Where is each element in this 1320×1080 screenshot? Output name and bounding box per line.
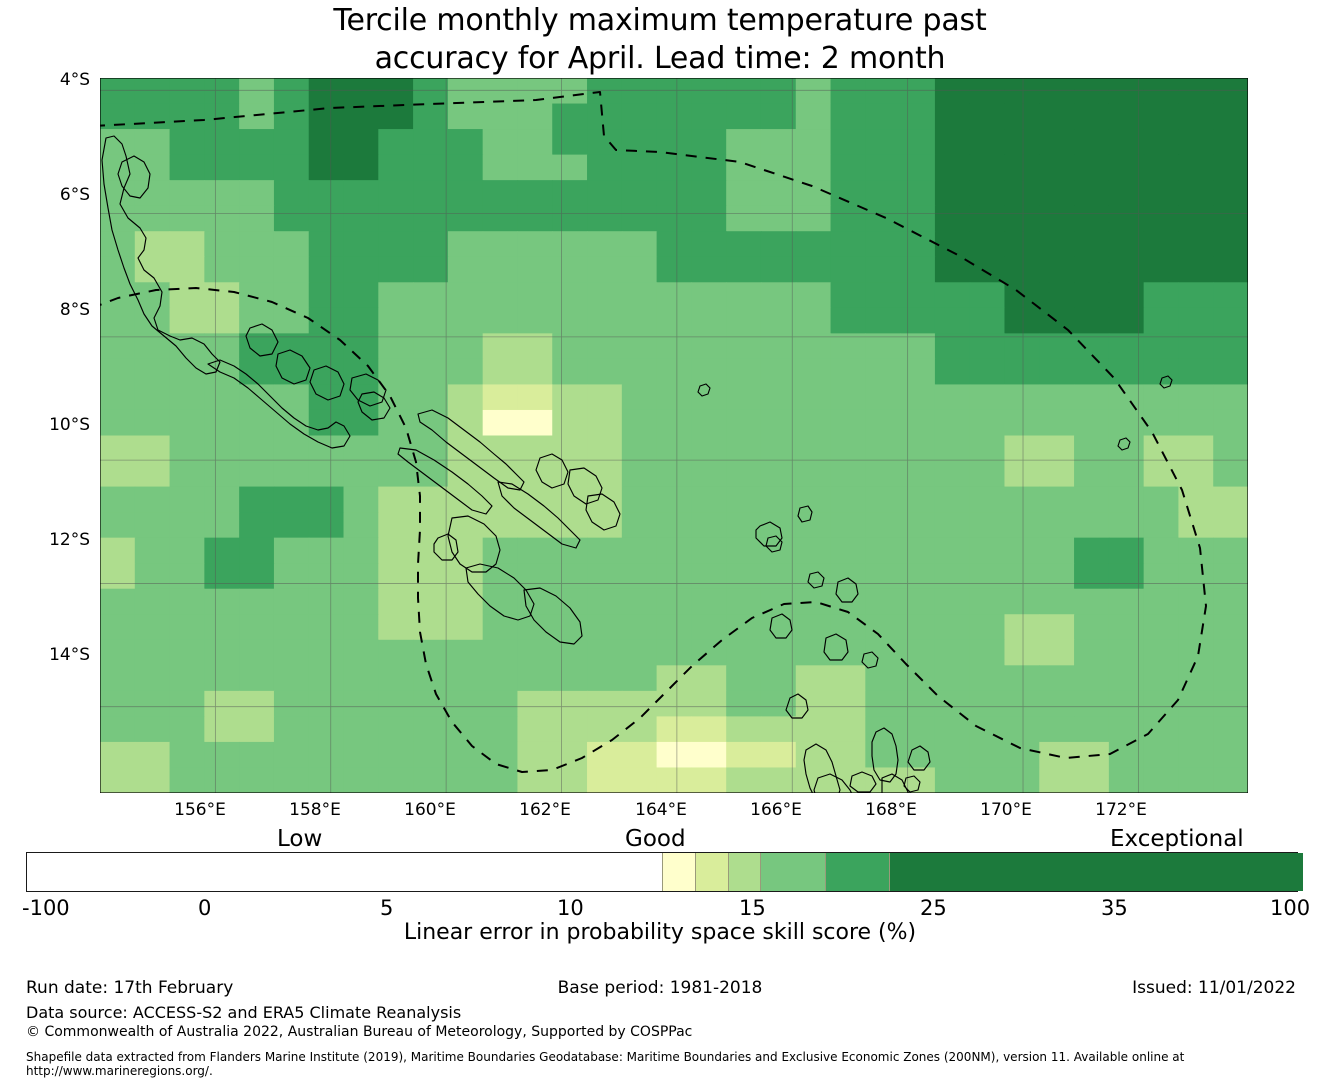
heatmap-cell <box>970 461 1005 487</box>
heatmap-cell <box>1178 487 1213 513</box>
heatmap-cell <box>552 333 587 359</box>
cbar-tick-7: 100 <box>1270 896 1310 920</box>
heatmap-cell <box>1144 487 1179 513</box>
heatmap-cell <box>274 665 309 691</box>
heatmap-cell <box>344 129 379 155</box>
heatmap-cell <box>1109 589 1144 615</box>
heatmap-cell <box>970 640 1005 666</box>
heatmap-cell <box>552 665 587 691</box>
heatmap-cell <box>239 180 274 206</box>
colorbar-segment-2 <box>695 853 728 891</box>
heatmap-cell <box>274 512 309 538</box>
heatmap-cell <box>726 206 761 232</box>
heatmap-cell <box>170 691 205 717</box>
heatmap-cell <box>1178 436 1213 462</box>
heatmap-cell <box>1109 563 1144 589</box>
heatmap-cell <box>587 691 622 717</box>
heatmap-cell <box>239 589 274 615</box>
heatmap-cell <box>970 206 1005 232</box>
heatmap-cell <box>170 180 205 206</box>
heatmap-cell <box>691 589 726 615</box>
heatmap-cell <box>517 282 552 308</box>
heatmap-cell <box>935 282 970 308</box>
heatmap-cell <box>135 155 170 181</box>
heatmap-cell <box>1178 129 1213 155</box>
heatmap-cell <box>448 410 483 436</box>
heatmap-cell <box>204 767 239 793</box>
heatmap-cell <box>378 410 413 436</box>
heatmap-cell <box>831 257 866 283</box>
heatmap-cell <box>796 282 831 308</box>
heatmap-cell <box>831 767 866 793</box>
heatmap-cell <box>1213 716 1248 742</box>
heatmap-cell <box>1178 78 1213 104</box>
heatmap-cell <box>622 614 657 640</box>
heatmap-cell <box>239 614 274 640</box>
heatmap-cell <box>170 461 205 487</box>
heatmap-cell <box>100 104 135 130</box>
heatmap-cell <box>970 742 1005 768</box>
heatmap-cell <box>1178 104 1213 130</box>
heatmap-cell <box>170 282 205 308</box>
heatmap-cell <box>1004 614 1039 640</box>
page-title: Tercile monthly maximum temperature past… <box>0 2 1320 78</box>
y-tick-0: 4°S <box>30 70 90 90</box>
heatmap-cell <box>204 308 239 334</box>
heatmap-cell <box>761 282 796 308</box>
heatmap-cell <box>1074 180 1109 206</box>
heatmap-cell <box>378 512 413 538</box>
heatmap-cell <box>1074 640 1109 666</box>
heatmap-cell <box>587 436 622 462</box>
heatmap-cell <box>726 640 761 666</box>
heatmap-cell <box>935 180 970 206</box>
heatmap-cell <box>170 487 205 513</box>
heatmap-cell <box>239 742 274 768</box>
heatmap-cell <box>1144 78 1179 104</box>
heatmap-cell <box>1213 78 1248 104</box>
heatmap-cell <box>1178 359 1213 385</box>
heatmap-cell <box>309 742 344 768</box>
x-tick-0: 156°E <box>155 800 245 820</box>
y-tick-2: 8°S <box>30 300 90 320</box>
heatmap-cell <box>796 410 831 436</box>
heatmap-cell <box>135 384 170 410</box>
heatmap-cell <box>1144 333 1179 359</box>
heatmap-cell <box>587 155 622 181</box>
heatmap-cell <box>413 257 448 283</box>
heatmap-cell <box>657 104 692 130</box>
heatmap-cell <box>1213 767 1248 793</box>
heatmap-cell <box>761 487 796 513</box>
heatmap-cell <box>204 589 239 615</box>
heatmap-cell <box>378 665 413 691</box>
heatmap-cell <box>970 512 1005 538</box>
footer-shapefile-line-2: http://www.marineregions.org/. <box>26 1064 213 1078</box>
heatmap-cell <box>552 104 587 130</box>
heatmap-cell <box>1144 257 1179 283</box>
heatmap-cell <box>344 333 379 359</box>
heatmap-cell <box>726 129 761 155</box>
heatmap-cell <box>587 410 622 436</box>
heatmap-cell <box>100 716 135 742</box>
heatmap-cell <box>1074 282 1109 308</box>
heatmap-cell <box>865 538 900 564</box>
heatmap-cell <box>344 155 379 181</box>
heatmap-cell <box>274 589 309 615</box>
heatmap-cell <box>100 206 135 232</box>
heatmap-cell <box>274 282 309 308</box>
heatmap-cell <box>448 104 483 130</box>
heatmap-cell <box>413 767 448 793</box>
heatmap-cell <box>726 104 761 130</box>
colorbar-segments[interactable] <box>26 852 1298 892</box>
heatmap-cell <box>135 180 170 206</box>
heatmap-cell <box>309 206 344 232</box>
heatmap-cell <box>970 384 1005 410</box>
heatmap-cell <box>135 538 170 564</box>
heatmap-cell <box>1039 487 1074 513</box>
heatmap-cell <box>726 231 761 257</box>
heatmap-cell <box>100 436 135 462</box>
heatmap-cell <box>761 742 796 768</box>
heatmap-cell <box>344 487 379 513</box>
heatmap-cell <box>135 257 170 283</box>
heatmap-cell <box>483 589 518 615</box>
heatmap-cell <box>517 742 552 768</box>
heatmap-cell <box>865 359 900 385</box>
heatmap-cell <box>239 691 274 717</box>
heatmap-cell <box>1039 384 1074 410</box>
heatmap-cell <box>1074 614 1109 640</box>
cbar-category-good: Good <box>625 826 686 852</box>
heatmap-cell <box>1213 282 1248 308</box>
heatmap-cell <box>170 359 205 385</box>
heatmap-cell <box>274 767 309 793</box>
heatmap-cell <box>274 487 309 513</box>
heatmap-cell <box>100 333 135 359</box>
heatmap-cell <box>622 563 657 589</box>
heatmap-cell <box>935 614 970 640</box>
heatmap-cell <box>587 308 622 334</box>
heatmap-cell <box>239 436 274 462</box>
heatmap-cell <box>448 384 483 410</box>
heatmap-cell <box>587 512 622 538</box>
heatmap-cell <box>344 410 379 436</box>
heatmap-cell <box>900 333 935 359</box>
heatmap-cell <box>274 78 309 104</box>
heatmap-cell <box>378 231 413 257</box>
heatmap-cell <box>761 691 796 717</box>
heatmap-cell <box>622 691 657 717</box>
heatmap-cell <box>726 333 761 359</box>
heatmap-cell <box>1074 665 1109 691</box>
heatmap-cell <box>691 665 726 691</box>
heatmap-cell <box>1178 589 1213 615</box>
heatmap-cell <box>691 257 726 283</box>
heatmap-cell <box>1109 614 1144 640</box>
heatmap-cell <box>100 691 135 717</box>
heatmap-cell <box>970 691 1005 717</box>
heatmap-cell <box>1004 333 1039 359</box>
heatmap-cell <box>622 716 657 742</box>
heatmap-cell <box>1074 231 1109 257</box>
heatmap-cell <box>483 512 518 538</box>
heatmap-cell <box>100 308 135 334</box>
heatmap-cell <box>1178 308 1213 334</box>
cbar-tick-0: -100 <box>22 896 70 920</box>
heatmap-cell <box>657 614 692 640</box>
heatmap-cell <box>1144 640 1179 666</box>
heatmap-cell <box>170 614 205 640</box>
heatmap-cell <box>622 78 657 104</box>
heatmap-cell <box>970 487 1005 513</box>
y-tick-5: 14°S <box>20 645 90 665</box>
heatmap-cell <box>274 206 309 232</box>
heatmap-cell <box>726 487 761 513</box>
heatmap-cell <box>448 333 483 359</box>
heatmap-cell <box>796 180 831 206</box>
heatmap-cell <box>483 257 518 283</box>
heatmap-cell <box>1074 436 1109 462</box>
heatmap-cell <box>309 155 344 181</box>
heatmap-cell <box>274 742 309 768</box>
heatmap-cell <box>761 257 796 283</box>
heatmap-cell <box>831 563 866 589</box>
heatmap-cell <box>796 512 831 538</box>
heatmap-cell <box>761 410 796 436</box>
heatmap-cell <box>378 767 413 793</box>
heatmap-cell <box>865 231 900 257</box>
heatmap-cell <box>622 155 657 181</box>
heatmap-cell <box>622 206 657 232</box>
heatmap-cell <box>204 206 239 232</box>
heatmap-cell <box>100 767 135 793</box>
heatmap-cell <box>1144 589 1179 615</box>
heatmap-cell <box>552 742 587 768</box>
heatmap-cell <box>239 640 274 666</box>
heatmap-cell <box>1213 359 1248 385</box>
heatmap-cell <box>935 231 970 257</box>
heatmap-cell <box>274 716 309 742</box>
heatmap-cell <box>239 231 274 257</box>
heatmap-cell <box>1039 767 1074 793</box>
heatmap-cell <box>448 614 483 640</box>
heatmap-cell <box>1074 767 1109 793</box>
heatmap-cell <box>170 538 205 564</box>
heatmap-cell <box>1004 691 1039 717</box>
heatmap-cell <box>413 359 448 385</box>
heatmap-cell <box>865 589 900 615</box>
heatmap-cell <box>657 538 692 564</box>
y-tick-4: 12°S <box>20 530 90 550</box>
heatmap-cell <box>170 333 205 359</box>
heatmap-cell <box>309 359 344 385</box>
heatmap-cell <box>517 104 552 130</box>
heatmap-cell <box>170 716 205 742</box>
heatmap-cell <box>900 129 935 155</box>
heatmap-cell <box>935 716 970 742</box>
heatmap-cell <box>448 231 483 257</box>
heatmap-cell <box>726 767 761 793</box>
heatmap-cell <box>344 436 379 462</box>
heatmap-cell <box>865 614 900 640</box>
heatmap-cell <box>796 436 831 462</box>
footer-shapefile-line-1: Shapefile data extracted from Flanders M… <box>26 1050 1184 1064</box>
heatmap-cell <box>691 333 726 359</box>
heatmap-cell <box>1144 767 1179 793</box>
heatmap-cell <box>935 257 970 283</box>
heatmap-cell <box>1074 78 1109 104</box>
heatmap-cell <box>726 742 761 768</box>
heatmap-cell <box>657 129 692 155</box>
heatmap-cell <box>100 384 135 410</box>
heatmap-cell <box>691 308 726 334</box>
heatmap-cell <box>135 104 170 130</box>
heatmap-cell <box>935 104 970 130</box>
heatmap-cell <box>1074 206 1109 232</box>
heatmap-cell <box>691 614 726 640</box>
heatmap-cell <box>239 563 274 589</box>
heatmap-cell <box>1213 436 1248 462</box>
heatmap-cell <box>970 589 1005 615</box>
heatmap-cell <box>900 614 935 640</box>
heatmap-cell <box>1213 206 1248 232</box>
x-tick-7: 170°E <box>961 800 1051 820</box>
heatmap-cell <box>1213 742 1248 768</box>
heatmap-cell <box>796 78 831 104</box>
heatmap-cell <box>552 206 587 232</box>
heatmap-cell <box>970 563 1005 589</box>
heatmap-cell <box>552 512 587 538</box>
heatmap-cell <box>831 78 866 104</box>
heatmap-cell <box>1074 129 1109 155</box>
heatmap-cell <box>831 461 866 487</box>
x-tick-3: 162°E <box>500 800 590 820</box>
heatmap-cell <box>831 691 866 717</box>
heatmap-cell <box>274 640 309 666</box>
heatmap-cell <box>726 436 761 462</box>
heatmap-cell <box>691 180 726 206</box>
heatmap-cell <box>517 333 552 359</box>
heatmap-cell <box>900 180 935 206</box>
heatmap-cell <box>865 180 900 206</box>
heatmap-cell <box>135 640 170 666</box>
heatmap-cell <box>587 359 622 385</box>
heatmap-cell <box>1213 640 1248 666</box>
x-tick-4: 164°E <box>616 800 706 820</box>
heatmap-cell <box>1109 231 1144 257</box>
heatmap-cell <box>1039 461 1074 487</box>
heatmap-cell <box>657 282 692 308</box>
heatmap-cell <box>796 640 831 666</box>
heatmap-cell <box>378 180 413 206</box>
colorbar[interactable] <box>26 852 1298 892</box>
heatmap-cell <box>796 691 831 717</box>
heatmap-cell <box>691 563 726 589</box>
heatmap-cell <box>587 665 622 691</box>
heatmap-cell <box>170 78 205 104</box>
heatmap-cell <box>552 589 587 615</box>
heatmap-cell <box>1004 640 1039 666</box>
heatmap-cell <box>831 129 866 155</box>
heatmap-cell <box>726 282 761 308</box>
heatmap-cell <box>448 640 483 666</box>
heatmap-cell <box>309 257 344 283</box>
heatmap-cell <box>239 538 274 564</box>
heatmap-cell <box>900 359 935 385</box>
heatmap-cell <box>1178 155 1213 181</box>
heatmap-cell <box>483 282 518 308</box>
heatmap-cell <box>726 384 761 410</box>
heatmap-cell <box>1213 155 1248 181</box>
heatmap-cell <box>274 231 309 257</box>
heatmap-cell <box>517 640 552 666</box>
heatmap-cell <box>900 461 935 487</box>
heatmap-cell <box>204 129 239 155</box>
heatmap-cell <box>935 538 970 564</box>
heatmap-cell <box>796 308 831 334</box>
heatmap-cell <box>865 384 900 410</box>
cbar-tick-2: 5 <box>380 896 393 920</box>
heatmap-cell <box>1109 308 1144 334</box>
heatmap-cell <box>204 410 239 436</box>
heatmap-cell <box>100 589 135 615</box>
heatmap-cell <box>796 767 831 793</box>
heatmap-cell <box>1109 691 1144 717</box>
heatmap-cell <box>1039 257 1074 283</box>
heatmap-cell <box>935 742 970 768</box>
heatmap-cell <box>1039 359 1074 385</box>
heatmap-cell <box>517 384 552 410</box>
heatmap-cell <box>970 129 1005 155</box>
heatmap-cell <box>1109 78 1144 104</box>
heatmap-cell <box>900 282 935 308</box>
title-line-2: accuracy for April. Lead time: 2 month <box>0 40 1320 78</box>
heatmap-cell <box>204 282 239 308</box>
heatmap-cell <box>517 308 552 334</box>
heatmap-cell <box>309 512 344 538</box>
heatmap-cell <box>1109 384 1144 410</box>
heatmap-cell <box>1074 563 1109 589</box>
heatmap-cell <box>135 461 170 487</box>
heatmap-cell <box>587 206 622 232</box>
heatmap-cell <box>622 436 657 462</box>
heatmap-cell <box>970 665 1005 691</box>
heatmap-cell <box>657 384 692 410</box>
heatmap-cell <box>448 461 483 487</box>
heatmap-cell <box>900 512 935 538</box>
heatmap-cell <box>865 487 900 513</box>
heatmap-cell <box>865 665 900 691</box>
heatmap-cell <box>726 359 761 385</box>
heatmap-cell <box>796 104 831 130</box>
heatmap-cell <box>622 333 657 359</box>
heatmap-cell <box>483 640 518 666</box>
heatmap-cell <box>239 282 274 308</box>
heatmap-cell <box>378 589 413 615</box>
heatmap-cell <box>657 78 692 104</box>
heatmap-cell <box>587 231 622 257</box>
heatmap-cell <box>204 384 239 410</box>
heatmap-cell <box>344 716 379 742</box>
heatmap-cell <box>691 282 726 308</box>
heatmap-cell <box>483 384 518 410</box>
heatmap-cell <box>1178 461 1213 487</box>
heatmap-cell <box>483 231 518 257</box>
heatmap-cell <box>552 563 587 589</box>
heatmap-cell <box>935 155 970 181</box>
